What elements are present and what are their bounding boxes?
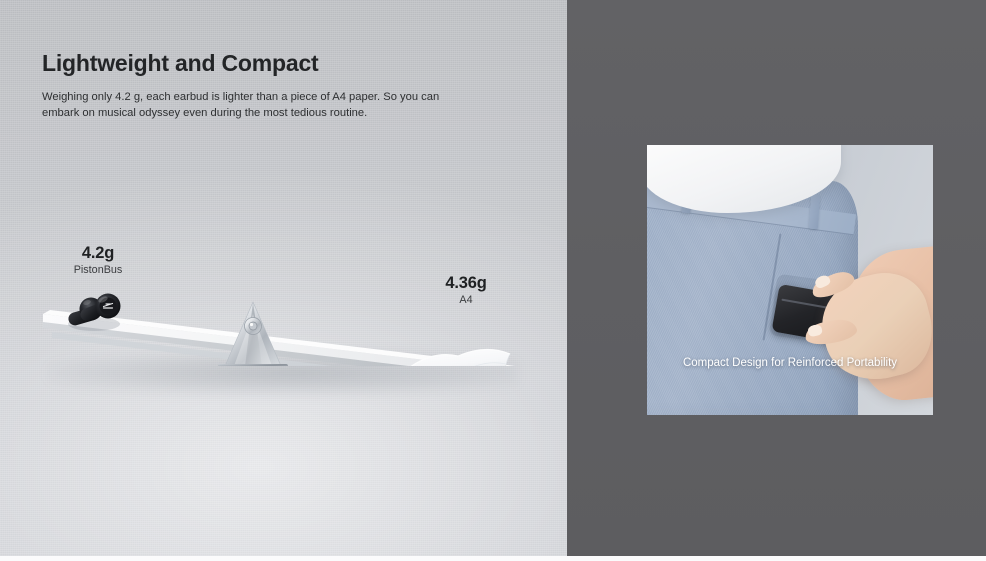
balance-scale-illustration: 4.2g PistonBus 4.36g A4 [0, 230, 567, 450]
photo-caption: Compact Design for Reinforced Portabilit… [667, 355, 913, 372]
page-description: Weighing only 4.2 g, each earbud is ligh… [42, 90, 457, 121]
right-weight-label: 4.36g A4 [420, 274, 512, 307]
left-weight-value: 4.2g [52, 244, 144, 263]
left-weight-label: 4.2g PistonBus [52, 244, 144, 277]
left-content-panel: Lightweight and Compact Weighing only 4.… [0, 0, 567, 556]
right-weight-value: 4.36g [420, 274, 512, 293]
left-weight-name: PistonBus [52, 263, 144, 277]
bottom-edge-strip [0, 556, 986, 561]
product-feature-page: Lightweight and Compact Weighing only 4.… [0, 0, 986, 561]
right-content-panel: Compact Design for Reinforced Portabilit… [567, 0, 986, 556]
page-title: Lightweight and Compact [42, 50, 319, 77]
earbuds [67, 294, 121, 332]
right-weight-name: A4 [420, 293, 512, 307]
pocket-photo: Compact Design for Reinforced Portabilit… [647, 145, 933, 415]
